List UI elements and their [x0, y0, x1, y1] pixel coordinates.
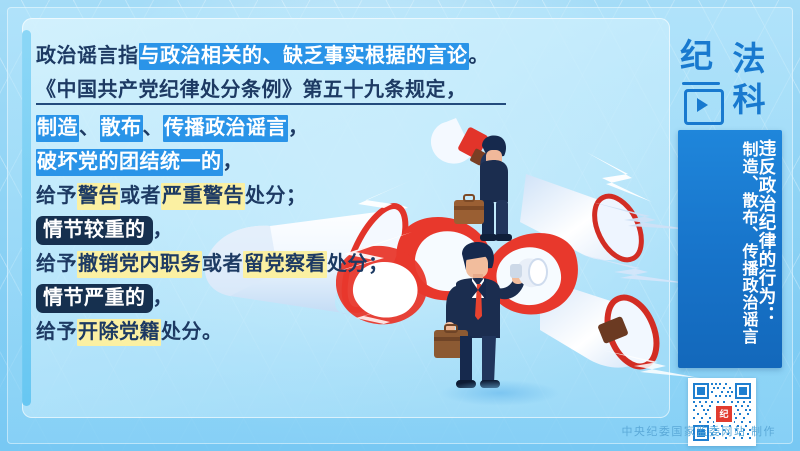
line2-tail: 规定，	[405, 79, 467, 101]
vertical-text-sub: 制造、散布、传播政治谣言	[739, 139, 756, 368]
line7-mid: 或者	[202, 253, 243, 275]
logo-char-2: 法	[733, 44, 766, 77]
line9-tail: 处分。	[161, 321, 223, 343]
line5-h1: 警告	[77, 183, 120, 210]
line8-badge: 情节严重的	[36, 284, 153, 313]
text-line-5: 给予警告或者严重警告处分；	[36, 186, 506, 206]
line3-h3: 传播政治谣言	[163, 115, 288, 142]
logo-char-ji-wrap: 纪	[680, 41, 722, 79]
vertical-text-main: 违反政治纪律的行为：	[757, 139, 776, 368]
line7-h1: 撤销党内职务	[77, 251, 202, 278]
right-rail: 纪 法 科 违反政治纪律的行为： 制造、散布、传播政治谣言	[670, 18, 790, 433]
logo-bai-top-stroke	[682, 82, 720, 85]
line5-mid: 或者	[120, 185, 161, 207]
line6-badge: 情节较重的	[36, 216, 153, 245]
text-line-8: 情节严重的，	[36, 288, 506, 308]
line5-tail: 处分；	[245, 185, 307, 207]
line1-tail: 。	[469, 45, 490, 67]
text-line-4: 破坏党的团结统一的，	[36, 152, 506, 172]
logo-char-1: 纪	[680, 39, 713, 75]
line3-h2: 散布	[100, 115, 143, 142]
text-line-2: 《中国共产党纪律处分条例》第五十九条规定，	[36, 80, 506, 105]
line3-sep2: 、	[143, 117, 164, 139]
line7-h2: 留党察看	[243, 251, 327, 278]
logo-char-bai-playmark	[680, 81, 722, 121]
vertical-title-bar: 违反政治纪律的行为： 制造、散布、传播政治谣言	[678, 130, 782, 368]
line1-lead: 政治谣言指	[36, 45, 139, 67]
line5-lead: 给予	[36, 185, 77, 207]
line1-highlight: 与政治相关的、缺乏事实根据的言论	[139, 43, 469, 70]
line3-sep1: 、	[79, 117, 100, 139]
line5-h2: 严重警告	[161, 183, 245, 210]
line4-highlight: 破坏党的团结统一的	[36, 149, 223, 176]
line6-tail: ，	[153, 219, 174, 241]
line9-h1: 开除党籍	[77, 319, 161, 346]
line7-tail: 处分；	[327, 253, 389, 275]
text-line-3: 制造、散布、传播政治谣言，	[36, 118, 506, 138]
line9-lead: 给予	[36, 321, 77, 343]
footer-credit: 中央纪委国家监委网站 制作	[621, 423, 776, 439]
play-triangle-icon	[697, 98, 708, 112]
panel-accent-bar	[22, 30, 31, 406]
poster-root: 政治谣言指与政治相关的、缺乏事实根据的言论。 《中国共产党纪律处分条例》第五十九…	[0, 0, 800, 451]
figure-shadow	[440, 380, 560, 406]
line8-tail: ，	[153, 287, 174, 309]
line3-tail: ，	[288, 117, 309, 139]
text-line-6: 情节较重的，	[36, 220, 506, 240]
text-line-9: 给予开除党籍处分。	[36, 322, 506, 342]
qr-center-logo: 纪	[714, 404, 734, 424]
text-line-1: 政治谣言指与政治相关的、缺乏事实根据的言论。	[36, 46, 506, 66]
legal-text-block: 政治谣言指与政治相关的、缺乏事实根据的言论。 《中国共产党纪律处分条例》第五十九…	[36, 46, 506, 356]
logo-char-4: 科	[733, 85, 766, 118]
text-line-7: 给予撤销党内职务或者留党察看处分；	[36, 254, 506, 274]
line2-regulation: 《中国共产党纪律处分条例》第五十九条	[36, 79, 405, 101]
line3-h1: 制造	[36, 115, 79, 142]
line7-lead: 给予	[36, 253, 77, 275]
brand-logo: 纪 法 科	[678, 40, 782, 122]
line4-tail: ，	[223, 151, 244, 173]
